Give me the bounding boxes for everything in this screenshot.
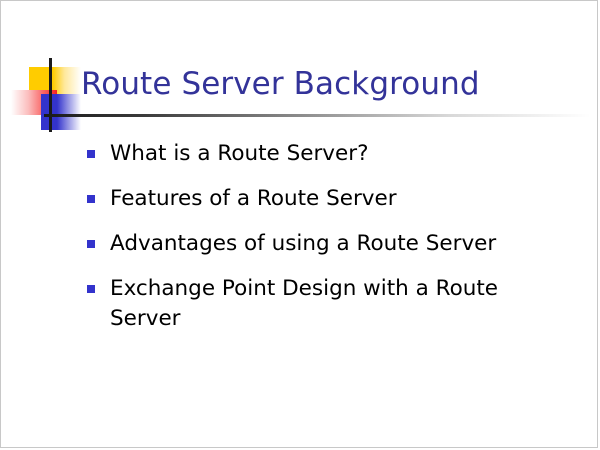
bullet-square-icon <box>87 285 95 293</box>
ornament-horizontal-rule <box>44 114 591 117</box>
list-item-label: Features of a Route Server <box>110 184 555 214</box>
list-item-label: Exchange Point Design with a Route Serve… <box>110 274 555 334</box>
list-item: What is a Route Server? <box>85 139 555 169</box>
bullet-square-icon <box>87 240 95 248</box>
slide-bullet-list: What is a Route Server? Features of a Ro… <box>85 139 555 334</box>
list-item: Exchange Point Design with a Route Serve… <box>85 274 555 334</box>
list-item-label: What is a Route Server? <box>110 139 555 169</box>
bullet-square-icon <box>87 195 95 203</box>
ornament-red-block <box>11 90 57 115</box>
ornament-vertical-line <box>49 58 52 132</box>
bullet-square-icon <box>87 150 95 158</box>
ornament-yellow-block <box>29 67 81 95</box>
presentation-slide: Route Server Background What is a Route … <box>0 0 598 448</box>
list-item: Features of a Route Server <box>85 184 555 214</box>
slide-title: Route Server Background <box>81 65 480 103</box>
list-item: Advantages of using a Route Server <box>85 229 555 259</box>
list-item-label: Advantages of using a Route Server <box>110 229 555 259</box>
ornament-blue-block <box>41 94 81 130</box>
